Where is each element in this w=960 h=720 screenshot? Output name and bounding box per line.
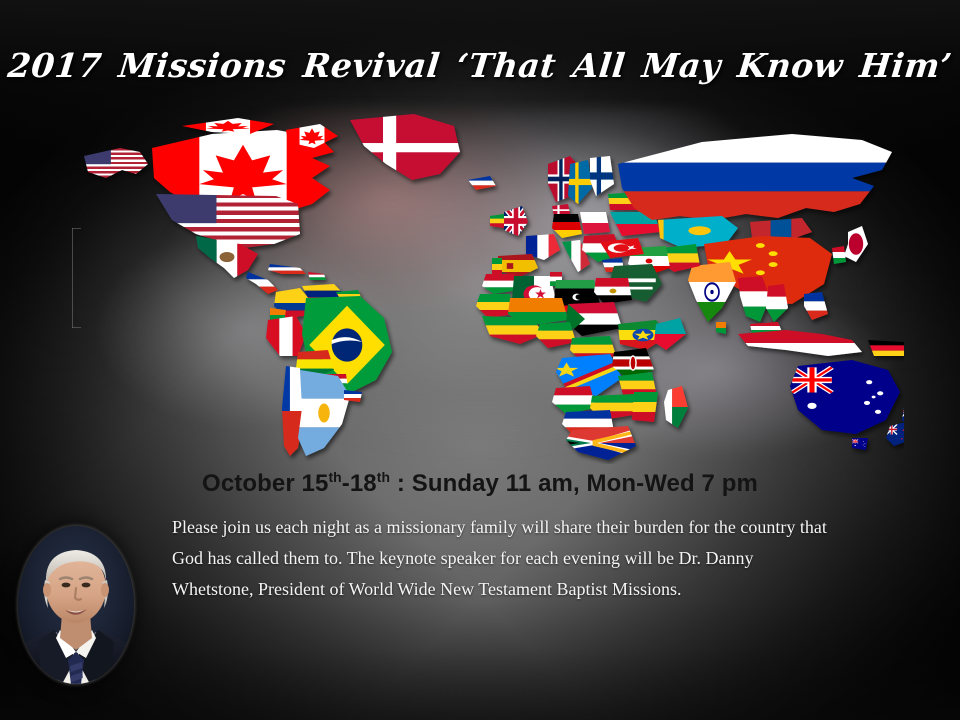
country-alaska <box>84 148 148 178</box>
country-sweden <box>568 160 592 204</box>
portrait-ear-left <box>43 583 51 597</box>
country-angola <box>552 386 596 414</box>
event-description: Please join us each night as a missionar… <box>172 512 832 605</box>
portrait-ear-right <box>101 583 109 597</box>
country-papua-new-guinea <box>868 340 904 356</box>
country-uruguay <box>344 390 362 402</box>
event-dateline: October 15th-18th : Sunday 11 am, Mon-We… <box>0 470 960 498</box>
country-indonesia <box>738 330 862 356</box>
country-germany <box>552 214 582 238</box>
country-vietnam <box>766 284 788 322</box>
map-countries <box>84 114 904 460</box>
country-mauritania <box>476 294 514 318</box>
presentation-slide: 2017 Missions Revival ‘That All May Know… <box>0 0 960 720</box>
country-morocco <box>482 274 518 294</box>
country-india <box>688 262 736 322</box>
country-central-america <box>246 272 278 294</box>
speaker-portrait-image <box>18 526 134 684</box>
country-greenland <box>350 114 460 180</box>
country-portugal <box>492 258 502 276</box>
country-south-africa <box>566 426 636 460</box>
dateline-month-day: October 15 <box>202 470 328 497</box>
slide-background-bottom-fade <box>0 600 960 720</box>
dateline-times: : Sunday 11 am, Mon-Wed 7 pm <box>390 470 758 497</box>
country-cuba <box>268 264 306 274</box>
country-korea <box>832 246 846 264</box>
country-philippines <box>804 292 828 320</box>
country-tasmania <box>852 438 868 450</box>
country-mozambique <box>632 392 658 422</box>
country-egypt <box>594 278 632 304</box>
speaker-portrait <box>18 526 134 684</box>
country-nigeria <box>536 322 576 348</box>
country-russia <box>618 134 892 220</box>
country-madagascar <box>664 386 688 428</box>
country-new-zealand-south <box>886 422 904 446</box>
country-iceland <box>468 176 496 190</box>
country-united-kingdom <box>504 206 528 236</box>
country-united-states <box>156 194 300 248</box>
portrait-eye-left <box>62 583 71 588</box>
country-finland <box>590 156 614 196</box>
country-ireland <box>490 214 504 228</box>
dateline-dash-day: -18 <box>342 470 377 497</box>
country-poland <box>580 212 610 234</box>
slide-title: 2017 Missions Revival ‘That All May Know… <box>0 46 960 85</box>
portrait-eye-right <box>82 583 91 588</box>
country-somalia <box>654 318 686 350</box>
dateline-ordinal-2: th <box>377 469 390 485</box>
country-sri-lanka <box>716 322 726 334</box>
country-australia <box>790 360 900 434</box>
map-svg <box>62 108 904 464</box>
dateline-ordinal-1: th <box>328 469 341 485</box>
country-japan <box>844 226 868 262</box>
country-hispaniola <box>308 272 326 280</box>
country-chad-sudan <box>566 302 622 336</box>
world-flag-map <box>62 108 904 464</box>
country-peru <box>266 316 306 356</box>
